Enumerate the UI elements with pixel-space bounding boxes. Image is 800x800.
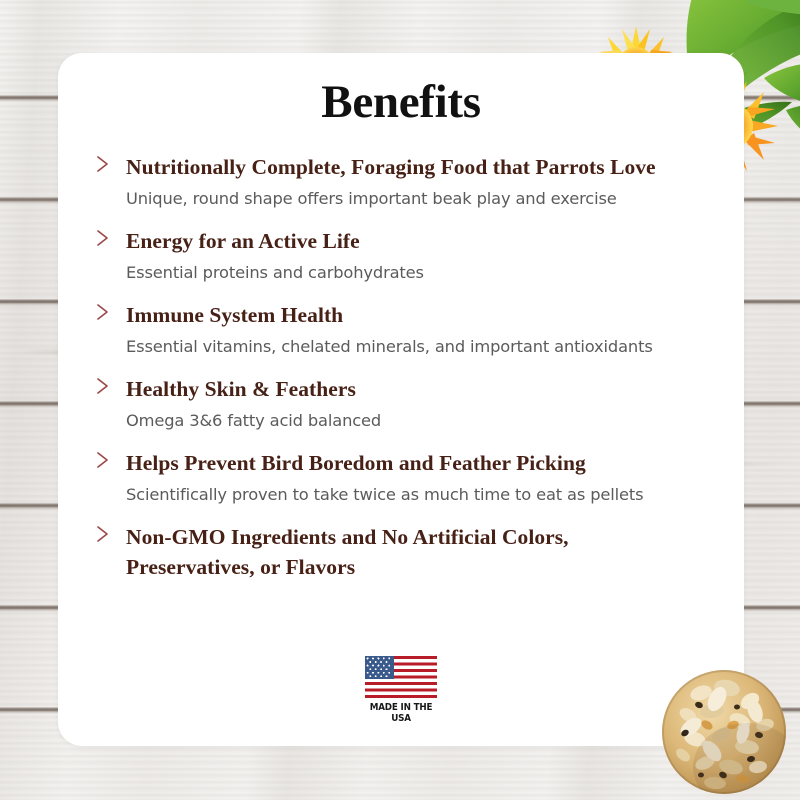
list-item: Healthy Skin & Feathers Omega 3&6 fatty … [96, 375, 714, 431]
benefit-subtext: Scientifically proven to take twice as m… [126, 484, 714, 505]
chevron-right-icon [96, 302, 110, 322]
benefit-heading: Energy for an Active Life [126, 227, 714, 257]
chevron-right-icon [96, 376, 110, 396]
benefits-list: Nutritionally Complete, Foraging Food th… [96, 153, 714, 583]
product-benefits-graphic: Benefits Nutritionally Complete, Foragin… [0, 0, 800, 800]
page-title: Benefits [58, 75, 744, 129]
usa-flag-icon [365, 656, 437, 698]
list-item: Energy for an Active Life Essential prot… [96, 227, 714, 283]
chevron-right-icon [96, 228, 110, 248]
benefit-subtext: Omega 3&6 fatty acid balanced [126, 410, 714, 431]
benefit-subtext: Unique, round shape offers important bea… [126, 188, 714, 209]
benefit-heading: Healthy Skin & Feathers [126, 375, 714, 405]
benefit-heading: Immune System Health [126, 301, 714, 331]
flag-stars [365, 656, 394, 679]
chevron-right-icon [96, 450, 110, 470]
list-item: Helps Prevent Bird Boredom and Feather P… [96, 449, 714, 505]
chevron-right-icon [96, 524, 110, 544]
list-item: Nutritionally Complete, Foraging Food th… [96, 153, 714, 209]
list-item: Immune System Health Essential vitamins,… [96, 301, 714, 357]
benefit-heading: Helps Prevent Bird Boredom and Feather P… [126, 449, 714, 479]
benefit-subtext: Essential proteins and carbohydrates [126, 262, 714, 283]
benefit-heading: Non-GMO Ingredients and No Artificial Co… [126, 523, 596, 583]
benefits-card: Benefits Nutritionally Complete, Foragin… [58, 53, 744, 746]
benefit-heading: Nutritionally Complete, Foraging Food th… [126, 153, 714, 183]
made-in-usa-badge: MADE IN THE USA [358, 656, 444, 724]
chevron-right-icon [96, 154, 110, 174]
made-in-usa-caption: MADE IN THE USA [361, 702, 440, 724]
benefit-subtext: Essential vitamins, chelated minerals, a… [126, 336, 714, 357]
list-item: Non-GMO Ingredients and No Artificial Co… [96, 523, 714, 583]
